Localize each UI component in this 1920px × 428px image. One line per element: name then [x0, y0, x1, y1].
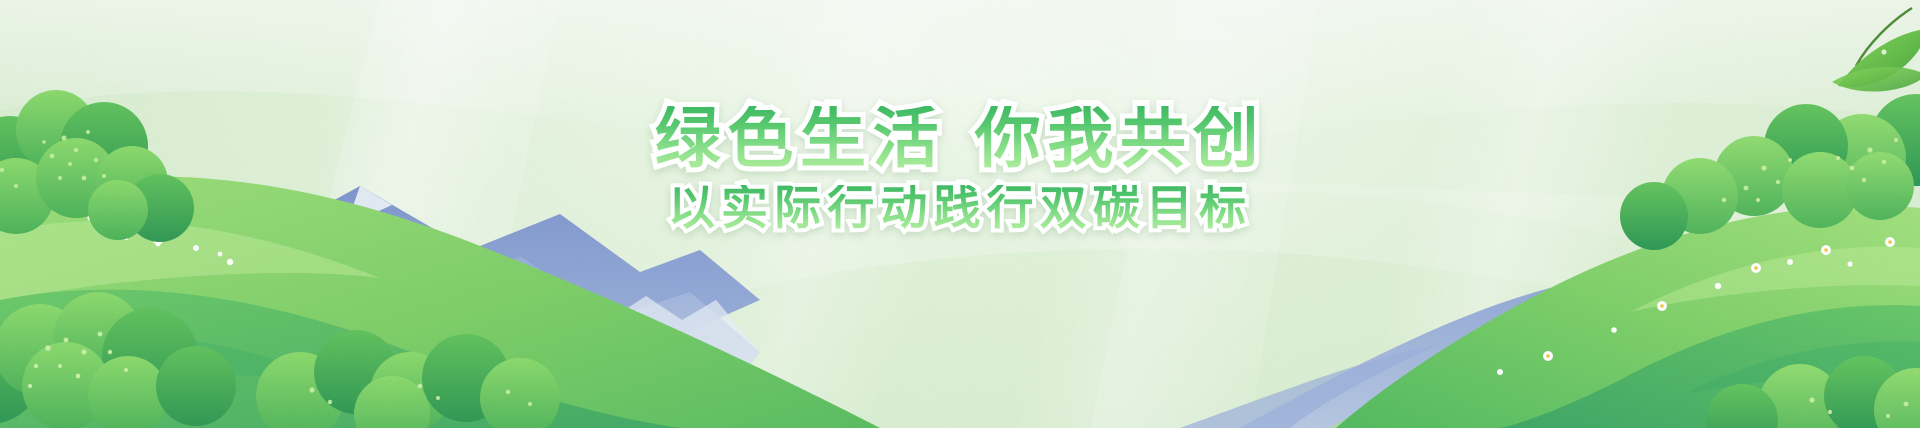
- banner-subtitle: 以实际行动践行双碳目标: [668, 185, 1252, 232]
- headline-block: 绿色生活 你我共创 以实际行动践行双碳目标: [0, 106, 1920, 232]
- eco-banner: 绿色生活 你我共创 以实际行动践行双碳目标: [0, 0, 1920, 428]
- banner-title: 绿色生活 你我共创: [655, 106, 1265, 172]
